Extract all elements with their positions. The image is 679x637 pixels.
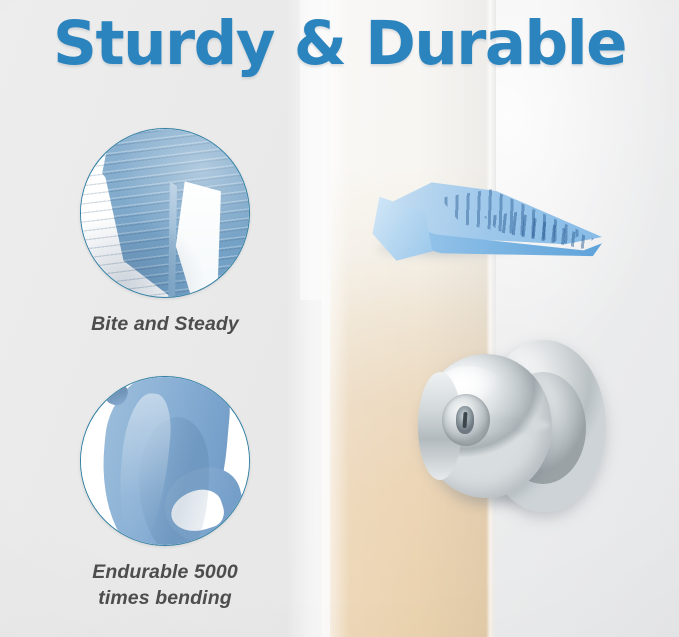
- feature-endurable-bending: Endurable 5000 times bending: [0, 376, 330, 612]
- page-title: Sturdy & Durable: [0, 8, 679, 79]
- feature-caption-line-1: Endurable 5000: [0, 560, 330, 586]
- wedge-shading: [81, 129, 249, 297]
- stopper-wedge-macro-photo-icon: [80, 128, 250, 298]
- feature-bite-and-steady: Bite and Steady: [0, 128, 330, 338]
- door-stopper-wedge: [372, 178, 602, 273]
- feature-caption: Endurable 5000 times bending: [0, 560, 330, 612]
- doorknob: [414, 336, 614, 522]
- door-edge: [486, 0, 496, 637]
- product-infographic: Sturdy & Durable Bite and Steady Endurab…: [0, 0, 679, 637]
- right-wall-glow: [490, 0, 679, 637]
- stopper-bent-flex-photo-icon: [80, 376, 250, 546]
- feature-caption: Bite and Steady: [0, 312, 330, 338]
- feature-caption-line-2: times bending: [0, 586, 330, 612]
- door-slab-shading: [322, 0, 494, 637]
